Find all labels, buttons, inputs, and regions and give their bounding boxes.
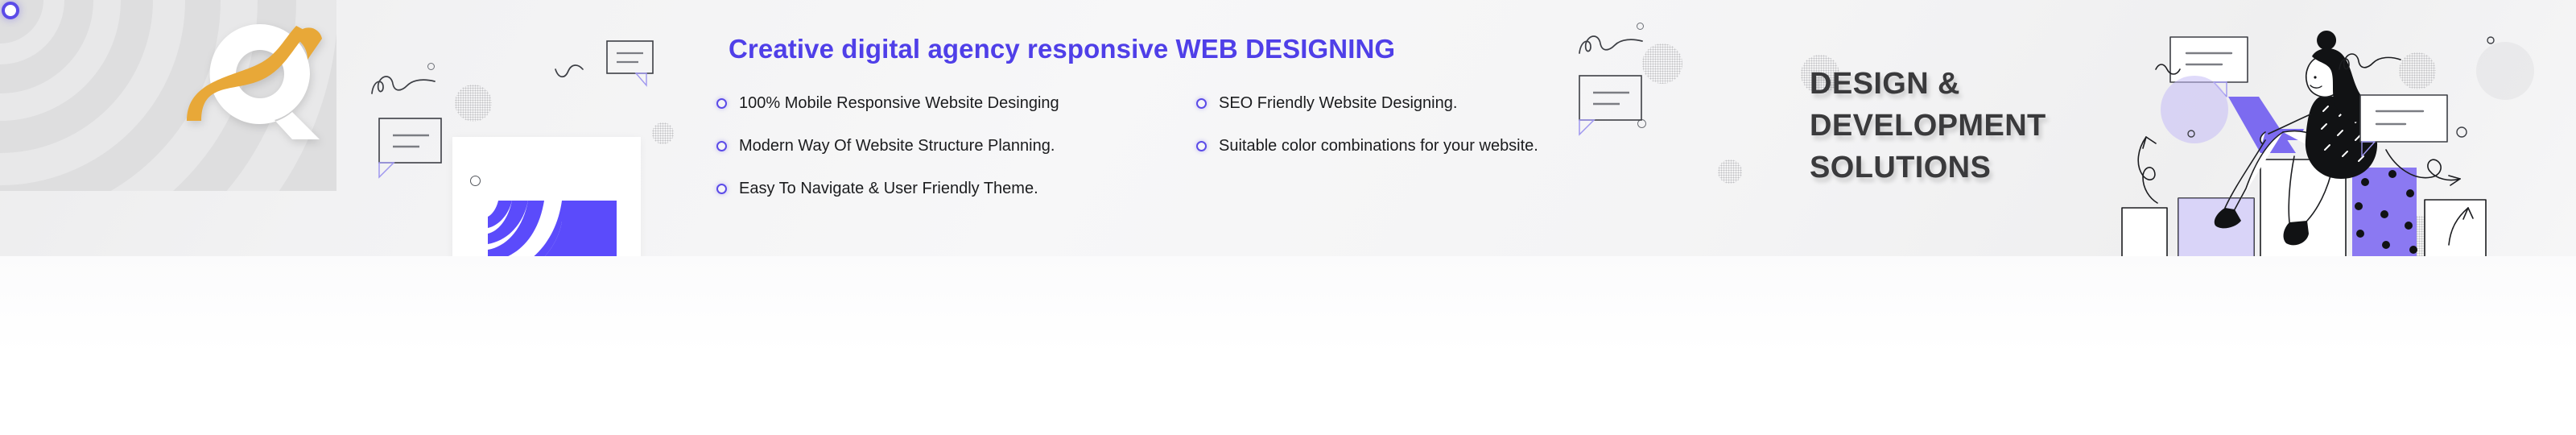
bullet-circle-icon [1196, 141, 1207, 151]
bullet-circle-icon [716, 141, 727, 151]
dotted-circle-icon [652, 122, 674, 144]
bullet-circle-icon [716, 184, 727, 194]
page-title: Creative digital agency responsive WEB D… [729, 34, 1395, 64]
small-ring-icon [427, 63, 435, 70]
list-item: 100% Mobile Responsive Website Desinging [716, 93, 1199, 136]
list-item-label: Suitable color combinations for your web… [1219, 136, 1538, 155]
hero-banner: Creative digital agency responsive WEB D… [0, 0, 2576, 256]
list-item-label: 100% Mobile Responsive Website Desinging [739, 93, 1059, 113]
squiggle-icon [369, 72, 441, 97]
small-ring-icon [1637, 23, 1644, 30]
dotted-circle-icon [455, 85, 492, 122]
page-body-area [0, 256, 2576, 435]
list-item: SEO Friendly Website Designing. [1196, 93, 1679, 136]
speech-bubble-icon [378, 118, 455, 184]
speech-bubble-icon [606, 40, 663, 93]
bullet-circle-icon [1196, 98, 1207, 109]
banner-screenshot: Creative digital agency responsive WEB D… [0, 0, 2576, 435]
feature-list-column-left: 100% Mobile Responsive Website Desinging… [716, 93, 1199, 222]
feature-list-column-right: SEO Friendly Website Designing. Suitable… [1196, 93, 1679, 179]
logo-card [452, 137, 641, 256]
section-heading-line: DESIGN & [1810, 63, 2046, 105]
squiggle-icon [554, 63, 586, 79]
list-item: Easy To Navigate & User Friendly Theme. [716, 179, 1199, 222]
dotted-circle-icon [1718, 159, 1742, 184]
section-heading: DESIGN & DEVELOPMENT SOLUTIONS [1810, 63, 2046, 188]
list-item: Suitable color combinations for your web… [1196, 136, 1679, 179]
woman-with-laptop-illustration [2093, 6, 2576, 256]
squiggle-icon [1576, 32, 1649, 56]
origin-dot-icon [2, 2, 19, 19]
concentric-arcs-mark-icon [488, 201, 617, 256]
bullet-circle-icon [716, 98, 727, 109]
q-swoosh-logo-icon [184, 14, 336, 147]
list-item-label: SEO Friendly Website Designing. [1219, 93, 1457, 113]
section-heading-line: DEVELOPMENT [1810, 105, 2046, 147]
card-ring-icon [470, 176, 481, 186]
list-item-label: Easy To Navigate & User Friendly Theme. [739, 179, 1038, 198]
section-heading-line: SOLUTIONS [1810, 147, 2046, 188]
list-item-label: Modern Way Of Website Structure Planning… [739, 136, 1055, 155]
list-item: Modern Way Of Website Structure Planning… [716, 136, 1199, 179]
